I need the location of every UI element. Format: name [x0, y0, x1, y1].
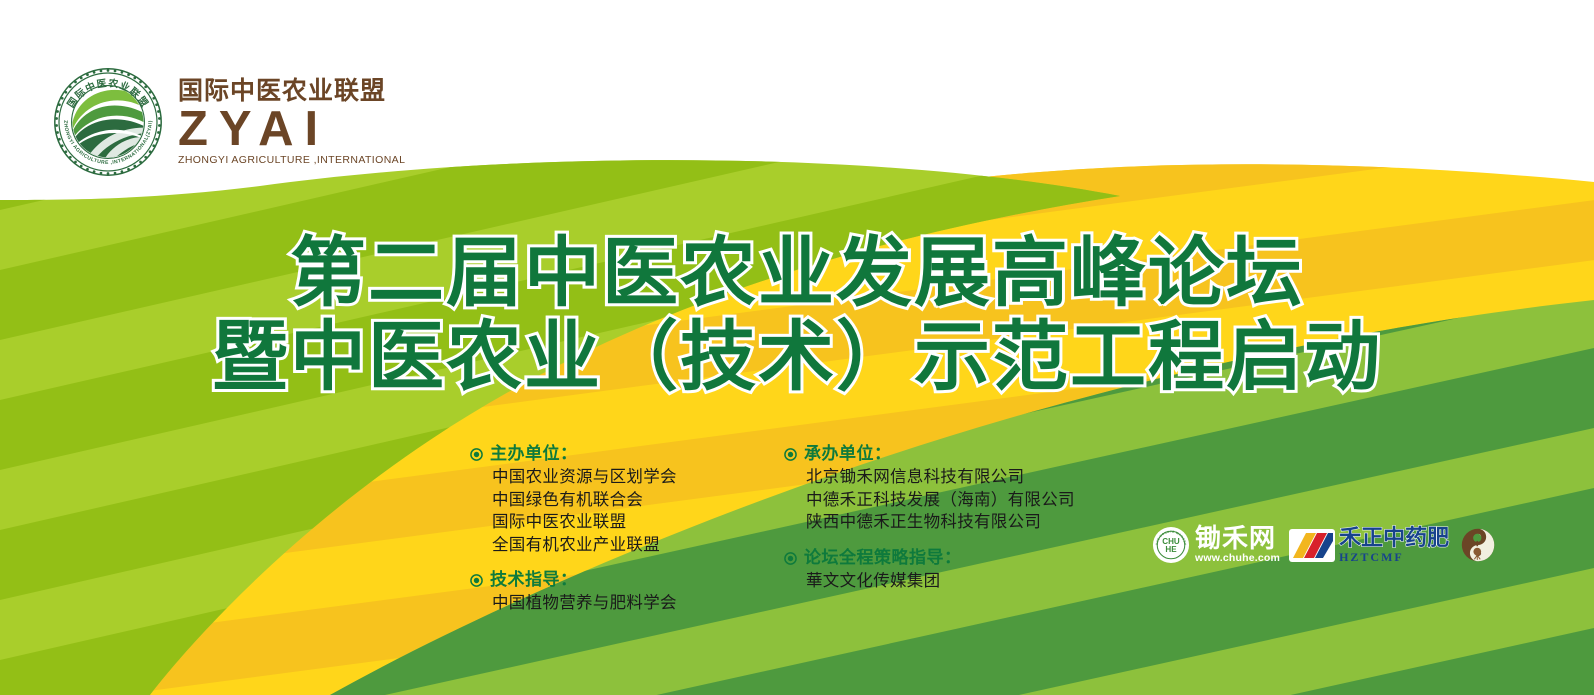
- credit-group-organizers: 主办单位： 中国农业资源与区划学会 中国绿色有机联合会 国际中医农业联盟 全国有…: [470, 444, 748, 556]
- chuhe-wordmark: 锄禾网 www.chuhe.com: [1195, 526, 1280, 564]
- credits-block: 主办单位： 中国农业资源与区划学会 中国绿色有机联合会 国际中医农业联盟 全国有…: [470, 444, 1062, 615]
- list-item: 華文文化传媒集团: [806, 570, 1062, 592]
- zyai-emblem-icon: 国际中医农业联盟 ZHONGYI AGRICULTURE ,INTERNATIO…: [52, 66, 164, 178]
- credit-list: 中国植物营养与肥料学会: [470, 592, 748, 614]
- logo-org-name-cn: 国际中医农业联盟: [178, 78, 405, 103]
- svg-text:®: ®: [1493, 529, 1498, 536]
- credit-list: 中国农业资源与区划学会 中国绿色有机联合会 国际中医农业联盟 全国有机农业产业联…: [470, 466, 748, 556]
- credit-heading: 技术指导：: [470, 570, 748, 591]
- list-item: 陕西中德禾正生物科技有限公司: [806, 511, 1062, 533]
- list-item: 北京锄禾网信息科技有限公司: [806, 466, 1062, 488]
- credit-heading-label: 论坛全程策略指导：: [804, 548, 962, 569]
- ring-bullet-icon: [470, 574, 483, 587]
- credit-heading: 主办单位：: [470, 444, 748, 465]
- list-item: 中国农业资源与区划学会: [492, 466, 748, 488]
- list-item: 中国植物营养与肥料学会: [492, 592, 748, 614]
- list-item: 国际中医农业联盟: [492, 511, 748, 533]
- chuhe-url: www.chuhe.com: [1195, 553, 1280, 564]
- credit-list: 華文文化传媒集团: [784, 570, 1062, 592]
- hezheng-wordmark: 禾正中药肥 HZTCMF: [1339, 528, 1449, 563]
- credit-group-strategy-guidance: 论坛全程策略指导： 華文文化传媒集团: [784, 548, 1062, 593]
- svg-text:HE: HE: [1165, 545, 1177, 554]
- organization-logo: 国际中医农业联盟 ZHONGYI AGRICULTURE ,INTERNATIO…: [52, 66, 405, 178]
- yinyang-tree-icon: ®: [1458, 524, 1500, 566]
- credit-group-technical-guidance: 技术指导： 中国植物营养与肥料学会: [470, 570, 748, 615]
- ring-bullet-icon: [784, 448, 797, 461]
- ring-bullet-icon: [784, 552, 797, 565]
- sponsor-chuhe-logo: CHU HE CHUHE NONGYE WANGZHAN 锄禾网 www.chu…: [1152, 526, 1280, 564]
- ring-bullet-icon: [470, 448, 483, 461]
- logo-org-abbr: ZYAI: [178, 106, 405, 153]
- hezheng-mark-icon: [1289, 529, 1335, 562]
- credit-heading: 论坛全程策略指导：: [784, 548, 1062, 569]
- chuhe-badge-icon: CHU HE CHUHE NONGYE WANGZHAN: [1152, 526, 1190, 564]
- credit-list: 北京锄禾网信息科技有限公司 中德禾正科技发展（海南）有限公司 陕西中德禾正生物科…: [784, 466, 1062, 533]
- list-item: 全国有机农业产业联盟: [492, 534, 748, 556]
- logo-wordmark: 国际中医农业联盟 ZYAI ZHONGYI AGRICULTURE ,INTER…: [178, 78, 405, 165]
- sponsor-logo-row: CHU HE CHUHE NONGYE WANGZHAN 锄禾网 www.chu…: [1152, 524, 1500, 566]
- conference-banner: 国际中医农业联盟 ZHONGYI AGRICULTURE ,INTERNATIO…: [0, 0, 1594, 695]
- chuhe-title: 锄禾网: [1195, 526, 1280, 552]
- sponsor-hezheng-logo: 禾正中药肥 HZTCMF: [1289, 528, 1449, 563]
- credit-group-co-organizers: 承办单位： 北京锄禾网信息科技有限公司 中德禾正科技发展（海南）有限公司 陕西中…: [784, 444, 1062, 534]
- logo-org-name-en: ZHONGYI AGRICULTURE ,INTERNATIONAL: [178, 155, 405, 166]
- credits-right-column: 承办单位： 北京锄禾网信息科技有限公司 中德禾正科技发展（海南）有限公司 陕西中…: [784, 444, 1062, 615]
- hezheng-abbr: HZTCMF: [1339, 551, 1449, 563]
- credit-heading-label: 主办单位：: [490, 444, 578, 465]
- credits-left-column: 主办单位： 中国农业资源与区划学会 中国绿色有机联合会 国际中医农业联盟 全国有…: [470, 444, 748, 615]
- credit-heading: 承办单位：: [784, 444, 1062, 465]
- list-item: 中德禾正科技发展（海南）有限公司: [806, 489, 1062, 511]
- credit-heading-label: 技术指导：: [490, 570, 578, 591]
- sponsor-taiji-tree-logo: ®: [1458, 524, 1500, 566]
- credit-heading-label: 承办单位：: [804, 444, 892, 465]
- list-item: 中国绿色有机联合会: [492, 489, 748, 511]
- hezheng-title: 禾正中药肥: [1339, 528, 1449, 550]
